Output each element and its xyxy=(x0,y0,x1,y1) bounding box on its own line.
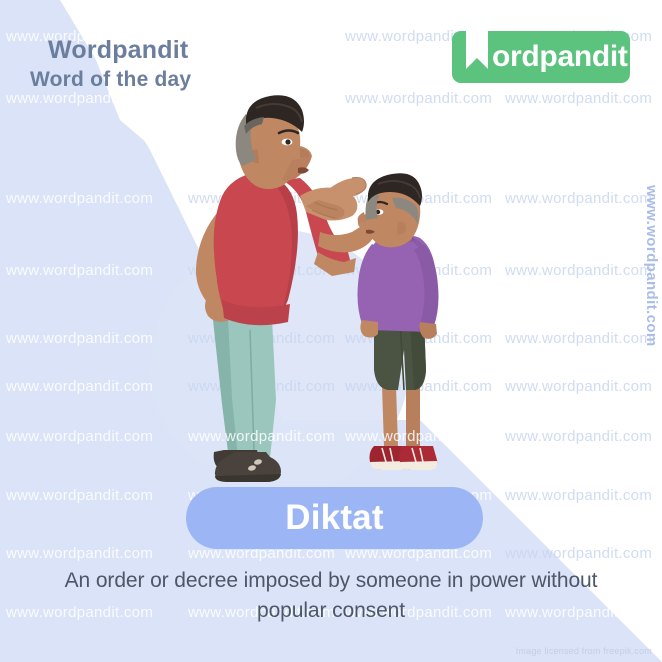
word-pill: Diktat xyxy=(186,487,483,549)
definition-line-2: popular consent xyxy=(257,599,405,622)
word-of-the-day-card: www.wordpandit.com www.wordpandit.com ww… xyxy=(0,0,662,662)
man-scolding-boy-illustration xyxy=(0,0,662,662)
adult-man-figure xyxy=(196,95,378,482)
page-title: Wordpandit xyxy=(48,36,188,65)
page-subtitle: Word of the day xyxy=(30,68,191,92)
definition-line-1: An order or decree imposed by someone in… xyxy=(65,569,598,592)
young-boy-figure xyxy=(358,173,439,470)
word-of-the-day: Diktat xyxy=(285,498,383,538)
wordpandit-logo-badge[interactable]: ordpandit xyxy=(452,31,630,83)
logo-text: ordpandit xyxy=(492,40,628,74)
image-credit: Image licensed from freepik.com xyxy=(516,646,652,656)
definition-text: An order or decree imposed by someone in… xyxy=(40,566,622,626)
boy-sneakers xyxy=(370,446,438,470)
watermark-vertical: www.wordpandit.com xyxy=(643,185,660,347)
bookmark-w-icon xyxy=(464,27,490,73)
